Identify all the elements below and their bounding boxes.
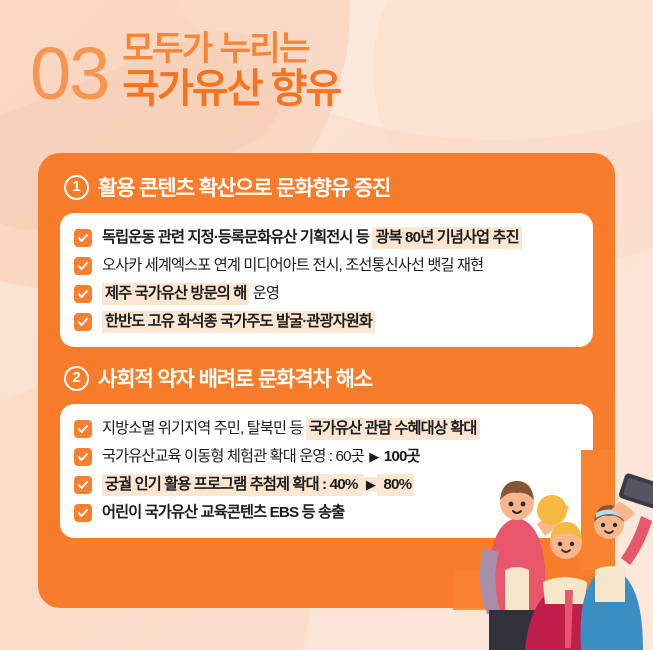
text-fragment: 궁궐 인기 활용 프로그램 추첨제 확대 : 40% [102, 474, 364, 496]
text-fragment: 80% [377, 474, 414, 496]
section-header: 2사회적 약자 배려로 문화격차 해소 [60, 363, 593, 393]
checklist-item[interactable]: 독립운동 관련 지정·등록문화유산 기획전시 등 광복 80년 기념사업 추진 [74, 224, 579, 252]
text-fragment: 제주 국가유산 방문의 해 [102, 283, 249, 305]
checklist-item-text: 어린이 국가유산 교육콘텐츠 EBS 등 송출 [102, 503, 344, 523]
text-fragment: 국가유산 관람 수혜대상 확대 [306, 418, 480, 440]
checklist-item[interactable]: 어린이 국가유산 교육콘텐츠 EBS 등 송출 [74, 499, 579, 527]
section-header: 1활용 콘텐츠 확산으로 문화향유 증진 [60, 172, 593, 202]
text-fragment: 한반도 고유 화석종 국가주도 발굴·관광자원화 [102, 311, 375, 333]
checklist-item-text: 오사카 세계엑스포 연계 미디어아트 전시, 조선통신사선 뱃길 재현 [102, 256, 483, 276]
text-fragment: 지방소멸 위기지역 주민, 탈북민 등 [102, 420, 306, 437]
arrow-icon: ▶ [364, 477, 377, 492]
text-fragment: 광복 80년 기념사업 추진 [372, 227, 521, 249]
text-fragment: 어린이 국가유산 교육콘텐츠 EBS 등 송출 [102, 504, 344, 521]
check-icon[interactable] [74, 420, 92, 438]
section-title: 사회적 약자 배려로 문화격차 해소 [98, 363, 372, 393]
check-icon[interactable] [74, 229, 92, 247]
section-number: 03 [30, 37, 108, 111]
checklist-panel: 지방소멸 위기지역 주민, 탈북민 등 국가유산 관람 수혜대상 확대국가유산교… [60, 404, 593, 538]
content-card: 1활용 콘텐츠 확산으로 문화향유 증진독립운동 관련 지정·등록문화유산 기획… [38, 153, 615, 608]
checklist-item[interactable]: 오사카 세계엑스포 연계 미디어아트 전시, 조선통신사선 뱃길 재현 [74, 252, 579, 280]
check-icon[interactable] [74, 313, 92, 331]
check-icon[interactable] [74, 504, 92, 522]
checklist-item[interactable]: 제주 국가유산 방문의 해 운영 [74, 280, 579, 308]
check-icon[interactable] [74, 285, 92, 303]
sections-container: 1활용 콘텐츠 확산으로 문화향유 증진독립운동 관련 지정·등록문화유산 기획… [60, 172, 593, 538]
checklist-item-text: 제주 국가유산 방문의 해 운영 [102, 284, 279, 304]
checklist-item-text: 지방소멸 위기지역 주민, 탈북민 등 국가유산 관람 수혜대상 확대 [102, 419, 480, 439]
page-title-line1: 모두가 누리는 [122, 30, 340, 68]
section-number-badge: 2 [64, 366, 89, 391]
text-fragment: 국가유산교육 이동형 체험관 확대 운영 : 60곳 [102, 448, 367, 465]
checklist-item-text: 국가유산교육 이동형 체험관 확대 운영 : 60곳 ▶ 100곳 [102, 447, 420, 467]
page-title-line2: 국가유산 향유 [122, 67, 340, 112]
page-title: 모두가 누리는 국가유산 향유 [122, 30, 340, 112]
arrow-icon: ▶ [367, 449, 380, 464]
section-1: 1활용 콘텐츠 확산으로 문화향유 증진독립운동 관련 지정·등록문화유산 기획… [60, 172, 593, 347]
checklist-item-text: 독립운동 관련 지정·등록문화유산 기획전시 등 광복 80년 기념사업 추진 [102, 228, 522, 248]
section-number-badge: 1 [64, 175, 89, 200]
checklist-item[interactable]: 지방소멸 위기지역 주민, 탈북민 등 국가유산 관람 수혜대상 확대 [74, 415, 579, 443]
page-header: 03 모두가 누리는 국가유산 향유 [0, 0, 653, 142]
text-fragment: 운영 [249, 285, 279, 302]
text-fragment: 오사카 세계엑스포 연계 미디어아트 전시, 조선통신사선 뱃길 재현 [102, 257, 483, 274]
checklist-panel: 독립운동 관련 지정·등록문화유산 기획전시 등 광복 80년 기념사업 추진오… [60, 213, 593, 347]
check-icon[interactable] [74, 448, 92, 466]
section-2: 2사회적 약자 배려로 문화격차 해소지방소멸 위기지역 주민, 탈북민 등 국… [60, 363, 593, 538]
text-fragment: 100곳 [380, 448, 419, 465]
checklist-item[interactable]: 국가유산교육 이동형 체험관 확대 운영 : 60곳 ▶ 100곳 [74, 443, 579, 471]
check-icon[interactable] [74, 257, 92, 275]
section-title: 활용 콘텐츠 확산으로 문화향유 증진 [98, 172, 390, 202]
check-icon[interactable] [74, 476, 92, 494]
checklist-item-text: 한반도 고유 화석종 국가주도 발굴·관광자원화 [102, 312, 375, 332]
text-fragment: 독립운동 관련 지정·등록문화유산 기획전시 등 [102, 229, 372, 246]
checklist-item[interactable]: 궁궐 인기 활용 프로그램 추첨제 확대 : 40% ▶ 80% [74, 471, 579, 499]
checklist-item[interactable]: 한반도 고유 화석종 국가주도 발굴·관광자원화 [74, 308, 579, 336]
checklist-item-text: 궁궐 인기 활용 프로그램 추첨제 확대 : 40% ▶ 80% [102, 475, 414, 495]
